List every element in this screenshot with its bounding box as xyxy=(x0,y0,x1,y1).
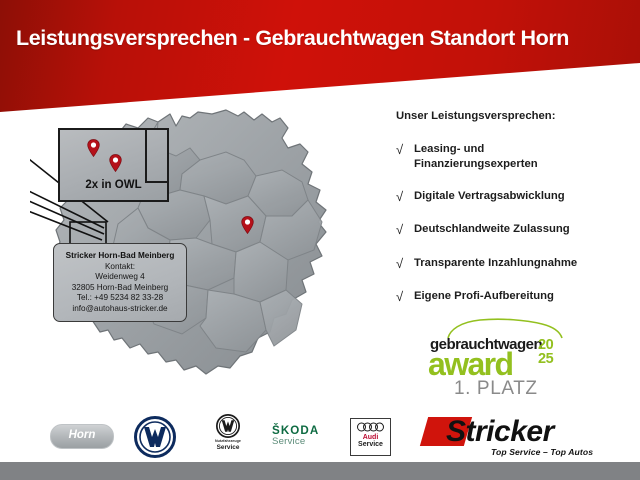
award-year-bottom: 25 xyxy=(538,351,553,367)
award-year: 20 25 xyxy=(538,338,553,366)
award-rank: 1. PLATZ xyxy=(454,378,538,400)
footer-bar xyxy=(0,462,640,480)
promise-list: Unser Leistungsversprechen: √ Leasing- u… xyxy=(396,110,636,322)
address-line-1: Kontakt: xyxy=(58,262,182,273)
promise-item-label: Eigene Profi-Aufbereitung xyxy=(414,289,554,304)
map-pin-icon xyxy=(109,154,122,172)
address-card: Stricker Horn-Bad Meinberg Kontakt: Weid… xyxy=(53,243,187,322)
promise-item: √ Digitale Vertragsabwicklung xyxy=(396,189,636,205)
slide-root: Leistungsversprechen - Gebrauchtwagen St… xyxy=(0,0,640,480)
map-pin-horn xyxy=(241,216,254,234)
check-icon: √ xyxy=(396,289,414,305)
check-icon: √ xyxy=(396,222,414,238)
promise-item: √ Eigene Profi-Aufbereitung xyxy=(396,289,636,305)
address-line-3: 32805 Horn-Bad Meinberg xyxy=(58,283,182,294)
promise-item-label: Deutschlandweite Zulassung xyxy=(414,222,570,237)
page-title: Leistungsversprechen - Gebrauchtwagen St… xyxy=(16,26,636,51)
promise-item-label: Digitale Vertragsabwicklung xyxy=(414,189,565,204)
map-pin-icon xyxy=(87,139,100,157)
check-icon: √ xyxy=(396,256,414,272)
promise-item-label: Leasing- und Finanzierungsexperten xyxy=(414,142,538,172)
address-email[interactable]: info@autohaus-stricker.de xyxy=(58,304,182,315)
promise-item: √ Transparente Inzahlungnahme xyxy=(396,256,636,272)
map-pin-icon xyxy=(241,216,254,234)
header-banner xyxy=(0,0,640,115)
check-icon: √ xyxy=(396,142,414,158)
owl-pin-2 xyxy=(109,154,122,172)
brand-logo-strip xyxy=(0,404,640,462)
award-badge: gebrauchtwagen award 20 25 1. PLATZ xyxy=(428,318,578,398)
check-icon: √ xyxy=(396,189,414,205)
promise-item: √ Deutschlandweite Zulassung xyxy=(396,222,636,238)
promise-heading: Unser Leistungsversprechen: xyxy=(396,110,636,122)
owl-inset-region-outline xyxy=(145,130,167,183)
promise-item-label: Transparente Inzahlungnahme xyxy=(414,256,577,271)
address-line-2: Weidenweg 4 xyxy=(58,272,182,283)
address-phone: Tel.: +49 5234 82 33-28 xyxy=(58,293,182,304)
address-name: Stricker Horn-Bad Meinberg xyxy=(58,251,182,262)
owl-inset-label: 2x in OWL xyxy=(60,179,167,191)
owl-pin-1 xyxy=(87,139,100,157)
owl-inset-box: 2x in OWL xyxy=(58,128,169,202)
promise-item: √ Leasing- und Finanzierungsexperten xyxy=(396,142,636,172)
